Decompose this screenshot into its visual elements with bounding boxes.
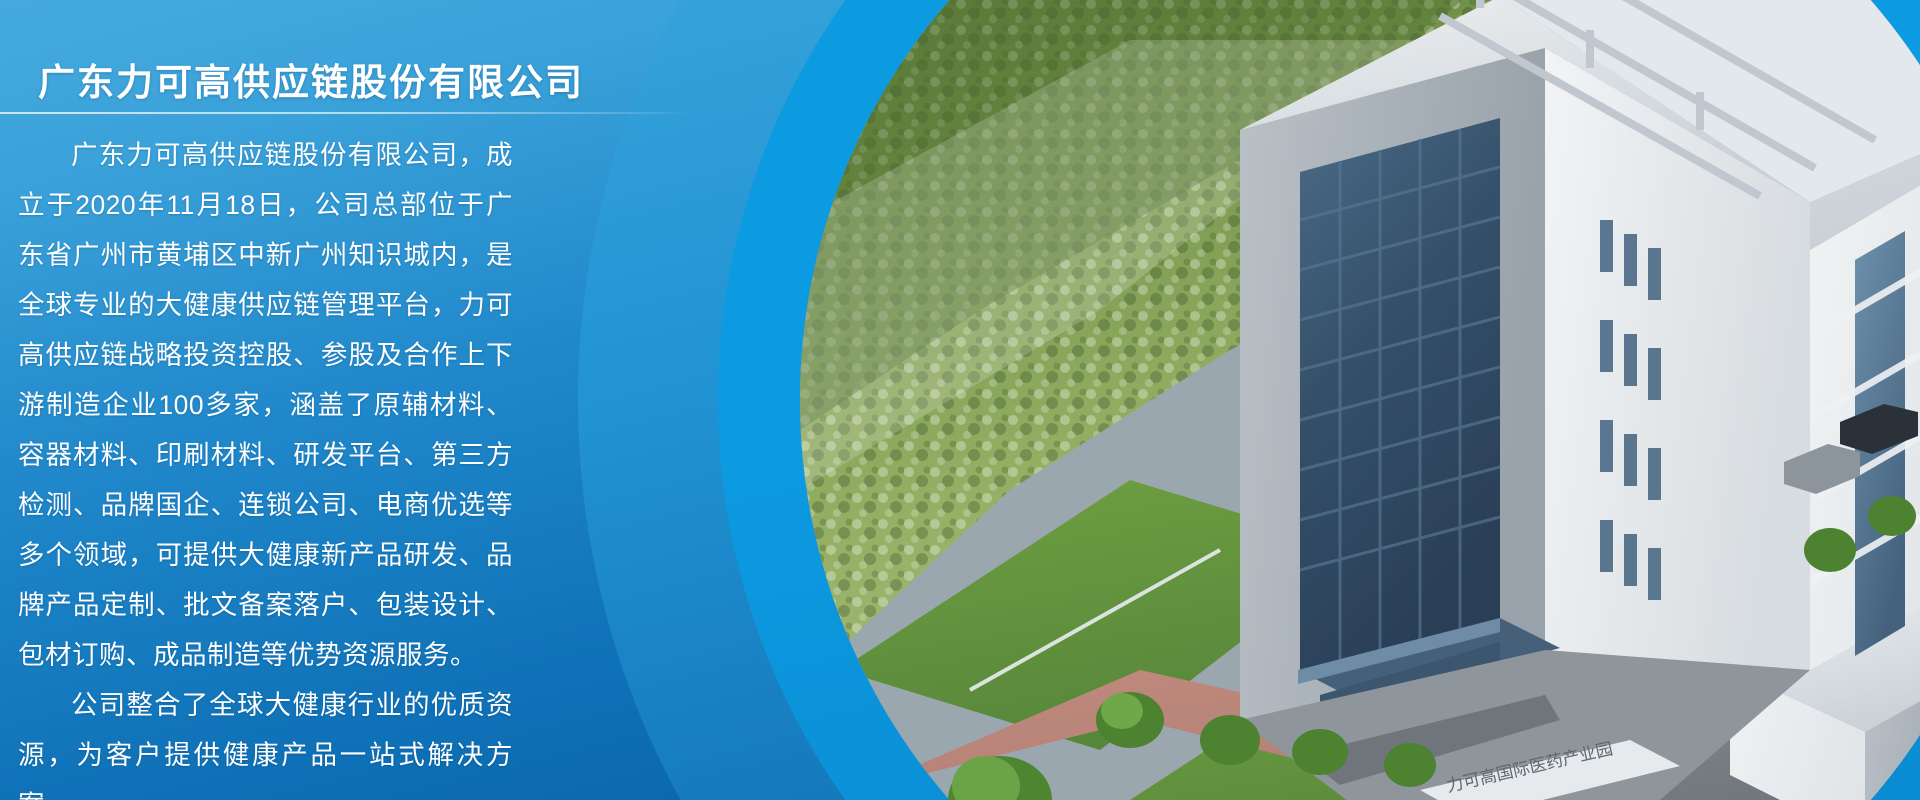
- text-column: 广东力可高供应链股份有限公司 广东力可高供应链股份有限公司，成立于2020年11…: [0, 0, 700, 800]
- paragraph-1: 广东力可高供应链股份有限公司，成立于2020年11月18日，公司总部位于广东省广…: [18, 130, 513, 680]
- aerial-rendering-illustration: 力可高国际医药产业园: [800, 0, 1920, 800]
- title-divider: [0, 112, 690, 114]
- company-profile-banner: 力可高国际医药产业园: [0, 0, 1920, 800]
- paragraph-2: 公司整合了全球大健康行业的优质资源，为客户提供健康产品一站式解决方案。: [18, 680, 513, 800]
- page-title: 广东力可高供应链股份有限公司: [38, 52, 584, 106]
- photo-circle-mask: 力可高国际医药产业园: [800, 0, 1920, 800]
- company-description: 广东力可高供应链股份有限公司，成立于2020年11月18日，公司总部位于广东省广…: [18, 130, 513, 800]
